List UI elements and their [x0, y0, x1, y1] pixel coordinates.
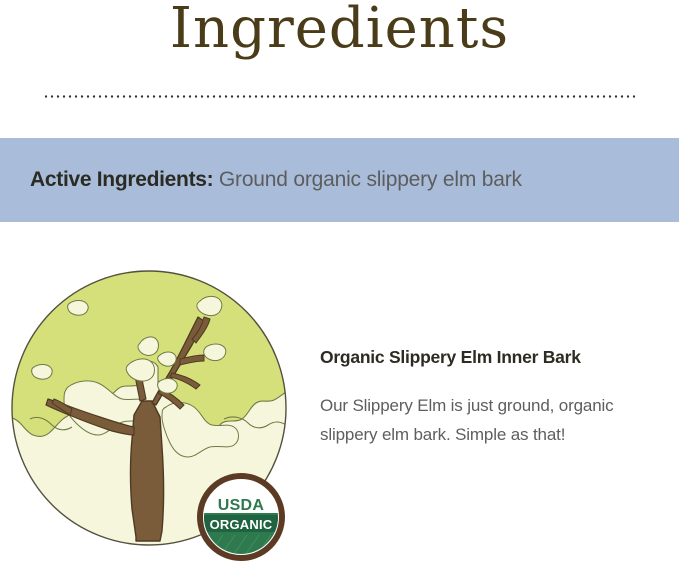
active-ingredients-banner: Active Ingredients: Ground organic slipp…	[0, 138, 679, 222]
ingredient-heading: Organic Slippery Elm Inner Bark	[320, 347, 660, 368]
active-ingredients-value: Ground organic slippery elm bark	[219, 168, 522, 191]
banner-text: Active Ingredients: Ground organic slipp…	[0, 168, 522, 192]
page-title: Ingredients	[0, 0, 679, 64]
active-ingredients-label: Active Ingredients:	[30, 168, 219, 191]
dotted-divider	[43, 95, 637, 98]
usda-badge-bottom-text: ORGANIC	[210, 517, 273, 532]
usda-badge-top-text: USDA	[218, 497, 265, 514]
ingredient-description-block: Organic Slippery Elm Inner Bark Our Slip…	[320, 347, 660, 449]
usda-organic-badge: USDA ORGANIC	[197, 473, 285, 561]
ingredient-body-text: Our Slippery Elm is just ground, organic…	[320, 391, 660, 449]
